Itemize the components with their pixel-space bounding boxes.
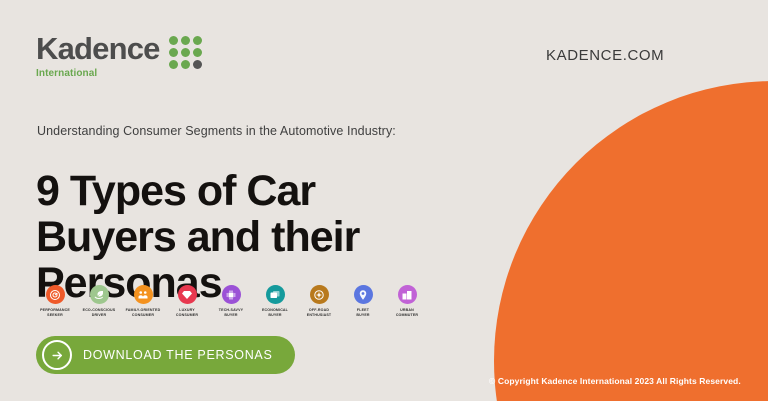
headline-kicker: Understanding Consumer Segments in the A…: [37, 124, 396, 138]
logo-subtext: International: [36, 68, 160, 79]
compass-icon: [310, 285, 329, 304]
site-url[interactable]: KADENCE.COM: [546, 47, 664, 64]
persona-item[interactable]: LUXURY CONSUMER: [165, 285, 209, 318]
logo-wordmark: Kadence: [36, 33, 160, 64]
persona-item[interactable]: OFF-ROAD ENTHUSIAST: [297, 285, 341, 318]
city-icon: [398, 285, 417, 304]
persona-label: OFF-ROAD ENTHUSIAST: [298, 308, 340, 318]
persona-item[interactable]: PERFORMANCE SEEKER: [33, 285, 77, 318]
persona-label: TECH-SAVVY BUYER: [210, 308, 252, 318]
persona-label: ECONOMICAL BUYER: [254, 308, 296, 318]
persona-icon-row: PERFORMANCE SEEKER ECO-CONSCIOUS DRIVER …: [33, 285, 429, 318]
logo-dot-grid-icon: [169, 36, 202, 69]
persona-item[interactable]: URBAN COMMUTER: [385, 285, 429, 318]
kadence-logo[interactable]: Kadence International: [36, 33, 202, 79]
persona-label: PERFORMANCE SEEKER: [34, 308, 76, 318]
download-personas-button[interactable]: DOWNLOAD THE PERSONAS: [36, 336, 295, 374]
speedometer-icon: [46, 285, 65, 304]
leaf-hand-icon: [90, 285, 109, 304]
download-personas-label: DOWNLOAD THE PERSONAS: [83, 348, 273, 362]
promo-banner: Kadence International KADENCE.COM Unders…: [0, 0, 768, 401]
arrow-right-icon: [42, 340, 72, 370]
persona-item[interactable]: FAMILY-ORIENTED CONSUMER: [121, 285, 165, 318]
persona-label: URBAN COMMUTER: [386, 308, 428, 318]
persona-label: LUXURY CONSUMER: [166, 308, 208, 318]
persona-label: FAMILY-ORIENTED CONSUMER: [122, 308, 164, 318]
persona-label: FLEET BUYER: [342, 308, 384, 318]
diamond-icon: [178, 285, 197, 304]
money-icon: [266, 285, 285, 304]
persona-item[interactable]: TECH-SAVVY BUYER: [209, 285, 253, 318]
decorative-orange-circle: [494, 81, 768, 401]
persona-item[interactable]: ECO-CONSCIOUS DRIVER: [77, 285, 121, 318]
fleet-pin-icon: [354, 285, 373, 304]
copyright-text: © Copyright Kadence International 2023 A…: [489, 376, 741, 386]
logo-text: Kadence International: [36, 33, 160, 79]
microchip-icon: [222, 285, 241, 304]
persona-label: ECO-CONSCIOUS DRIVER: [78, 308, 120, 318]
persona-item[interactable]: FLEET BUYER: [341, 285, 385, 318]
family-icon: [134, 285, 153, 304]
persona-item[interactable]: ECONOMICAL BUYER: [253, 285, 297, 318]
